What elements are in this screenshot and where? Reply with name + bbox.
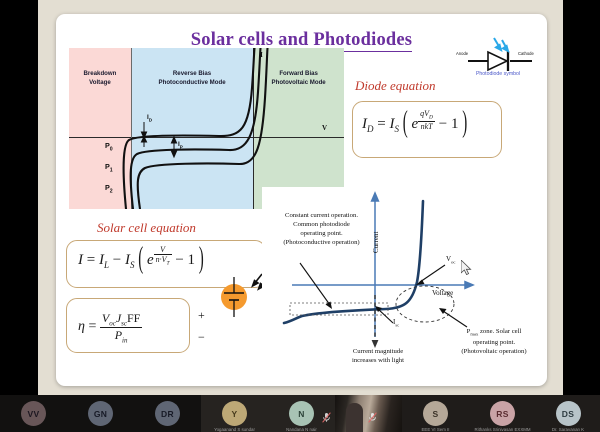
participant-tile[interactable]: VV <box>0 395 67 432</box>
solar-cell-iv-chart: Current Voltage Constant current operati… <box>262 187 547 372</box>
mouse-cursor <box>461 260 472 275</box>
region-label-breakdown: Breakdown Voltage <box>69 70 131 88</box>
avatar: S <box>423 401 448 426</box>
participant-tile[interactable]: DS Dr. Saravanan K <box>536 395 600 432</box>
curve-label-p2: P2 <box>105 183 113 194</box>
note-current-magnitude: Current magnitude increases with light <box>324 347 432 365</box>
app-window: Solar cells and Photodiodes <box>0 0 600 432</box>
overlay-axis-voltage: Voltage <box>432 289 453 297</box>
solar-cell-equation: I = IL − IS ( e V n·VT − 1 ) <box>78 250 204 272</box>
participant-tile[interactable]: DR <box>134 395 201 432</box>
participant-name: Nandana N nair <box>268 427 335 432</box>
region-label-forward: Forward Bias Photovoltaic Mode <box>253 70 344 88</box>
participant-tile[interactable]: RS Rithanks Srinivasan EXXMM <box>469 395 536 432</box>
photodiode-symbol-caption: Photodiode symbol <box>454 71 542 77</box>
participant-tile[interactable]: S EEE VI Sem II <box>402 395 469 432</box>
screen-share-stage: Solar cells and Photodiodes <box>0 0 600 395</box>
participant-video-tile[interactable] <box>335 395 402 432</box>
avatar-initials: GN <box>94 409 107 419</box>
video-person-silhouette <box>346 403 363 432</box>
axis-label-voltage: V <box>322 124 327 132</box>
avatar-initials: Y <box>232 409 238 419</box>
cathode-label: Cathode <box>518 51 534 56</box>
avatar-initials: DR <box>161 409 174 419</box>
avatar: DR <box>155 401 180 426</box>
current-photo-label: IP <box>178 141 183 149</box>
mic-muted-icon <box>322 412 331 423</box>
curve-label-p1: P1 <box>105 162 113 173</box>
avatar-initials: VV <box>28 409 40 419</box>
avatar-initials: RS <box>496 409 508 419</box>
diode-equation: ID = IS ( e qVD nkT − 1 ) <box>362 114 467 136</box>
note-photoconductive: Constant current operation. Common photo… <box>264 211 379 247</box>
participant-name: Yogaanand S sundar <box>201 427 268 432</box>
participant-name: EEE VI Sem II <box>402 427 469 432</box>
participant-tile[interactable]: N Nandana N nair <box>268 395 335 432</box>
terminal-minus-label: − <box>198 330 205 345</box>
avatar-initials: DS <box>562 409 574 419</box>
voc-label: Voc <box>446 255 455 264</box>
isc-label: Isc <box>393 318 399 327</box>
avatar: RS <box>490 401 515 426</box>
current-dark-label: ID <box>147 114 152 122</box>
participant-name: Dr. Saravanan K <box>536 427 600 432</box>
avatar: Y <box>222 401 247 426</box>
presentation-slide: Solar cells and Photodiodes <box>56 14 547 386</box>
region-label-reverse: Reverse Bias Photoconductive Mode <box>131 70 253 88</box>
avatar: DS <box>556 401 581 426</box>
avatar: N <box>289 401 314 426</box>
avatar-initials: S <box>433 409 439 419</box>
note-pmax-zone: Pmax zone. Solar cell operating point. (… <box>442 327 546 356</box>
anode-label: Anode <box>456 51 468 56</box>
solar-cell-equation-heading: Solar cell equation <box>97 220 196 236</box>
participant-tile[interactable]: Y Yogaanand S sundar <box>201 395 268 432</box>
mic-muted-icon <box>368 412 377 423</box>
axis-label-current: I <box>260 51 263 59</box>
avatar-initials: N <box>298 409 304 419</box>
participant-tile[interactable]: GN <box>67 395 134 432</box>
diode-equation-heading: Diode equation <box>355 78 436 94</box>
curve-label-p0: P0 <box>105 141 113 152</box>
avatar: GN <box>88 401 113 426</box>
participant-name: Rithanks Srinivasan EXXMM <box>469 427 536 432</box>
efficiency-equation: η = VocJscFF Pin <box>78 310 142 344</box>
participant-filmstrip[interactable]: VV GN DR Y Yogaanand S sundar N <box>0 395 600 432</box>
avatar: VV <box>21 401 46 426</box>
iv-characteristic-chart: Breakdown Voltage Reverse Bias Photocond… <box>69 48 344 209</box>
